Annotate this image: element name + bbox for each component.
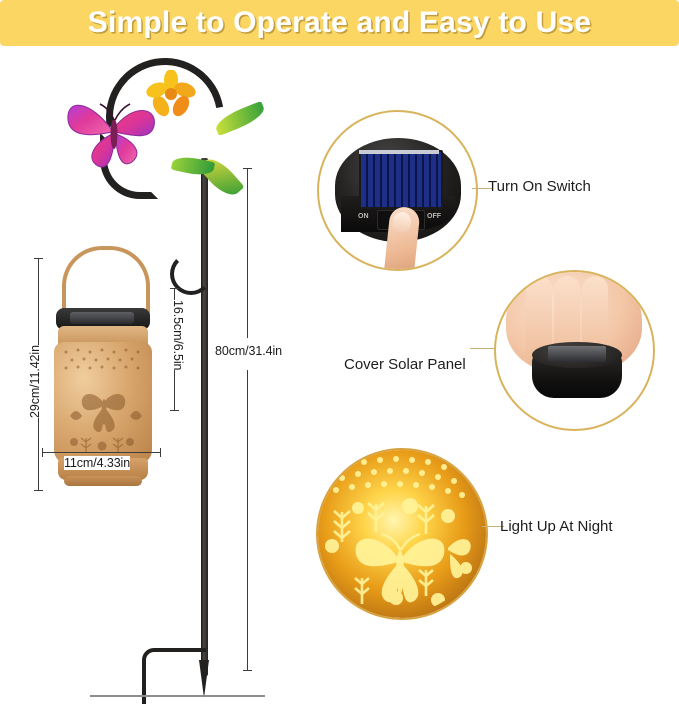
- dimension-tick-bottom: [34, 490, 43, 491]
- dimension-tick-hang-top: [170, 288, 179, 289]
- features-panel: ON OFF Turn On Switch Cover Solar Panel: [296, 48, 679, 675]
- dimension-tick-stake-bottom: [243, 670, 252, 671]
- dimension-line-stake-lower: [247, 370, 248, 670]
- ground-line: [90, 695, 265, 697]
- illuminated-cutout-pattern: [318, 450, 482, 614]
- feature-label-light-up-at-night: Light Up At Night: [500, 518, 613, 535]
- lantern-solar-panel: [70, 312, 134, 324]
- glass-butterfly-ornament: [60, 86, 170, 176]
- dimension-line-stake-upper: [247, 168, 248, 338]
- lantern-foot: [64, 476, 142, 486]
- dimension-label-lantern-width: 11cm/4.33in: [64, 456, 130, 470]
- switch-on-label: ON: [358, 213, 369, 220]
- solar-cell-busbar: [359, 150, 439, 154]
- page-title: Simple to Operate and Easy to Use: [88, 6, 591, 40]
- solar-panel-cell: [359, 150, 443, 209]
- lantern-cutout-pattern: [54, 342, 152, 464]
- dimension-line-lantern-width: [42, 452, 160, 453]
- dimension-tick-right: [160, 448, 161, 457]
- lantern-product-image: [40, 246, 165, 491]
- dimension-tick-hang-bottom: [170, 410, 179, 411]
- feature-image-turn-on-switch: ON OFF: [317, 110, 478, 271]
- header-banner: Simple to Operate and Easy to Use: [0, 0, 679, 46]
- feature-image-light-up-at-night: [316, 448, 488, 620]
- dimension-label-stake-height: 80cm/31.4in: [215, 344, 282, 358]
- solar-cap-panel: [548, 346, 606, 362]
- dimension-label-hang-height: 16.5cm/6.5in: [171, 300, 185, 370]
- stake-pole: [201, 158, 208, 676]
- infographic-canvas: Simple to Operate and Easy to Use: [0, 0, 679, 675]
- dimension-label-lantern-height: 29cm/11.42in: [28, 345, 42, 418]
- product-diagram-panel: 29cm/11.42in 16.5cm/6.5in 11cm/4.33in 80…: [0, 48, 310, 675]
- stake-tip: [199, 660, 209, 698]
- leader-line-cover-solar-panel: [470, 348, 496, 349]
- dimension-tick-top: [34, 258, 43, 259]
- feature-image-cover-solar-panel: [494, 270, 655, 431]
- switch-off-label: OFF: [427, 213, 441, 220]
- feature-label-cover-solar-panel: Cover Solar Panel: [344, 356, 466, 373]
- dimension-tick-left: [42, 448, 43, 457]
- feature-label-turn-on-switch: Turn On Switch: [488, 178, 591, 195]
- dimension-tick-stake-top: [243, 168, 252, 169]
